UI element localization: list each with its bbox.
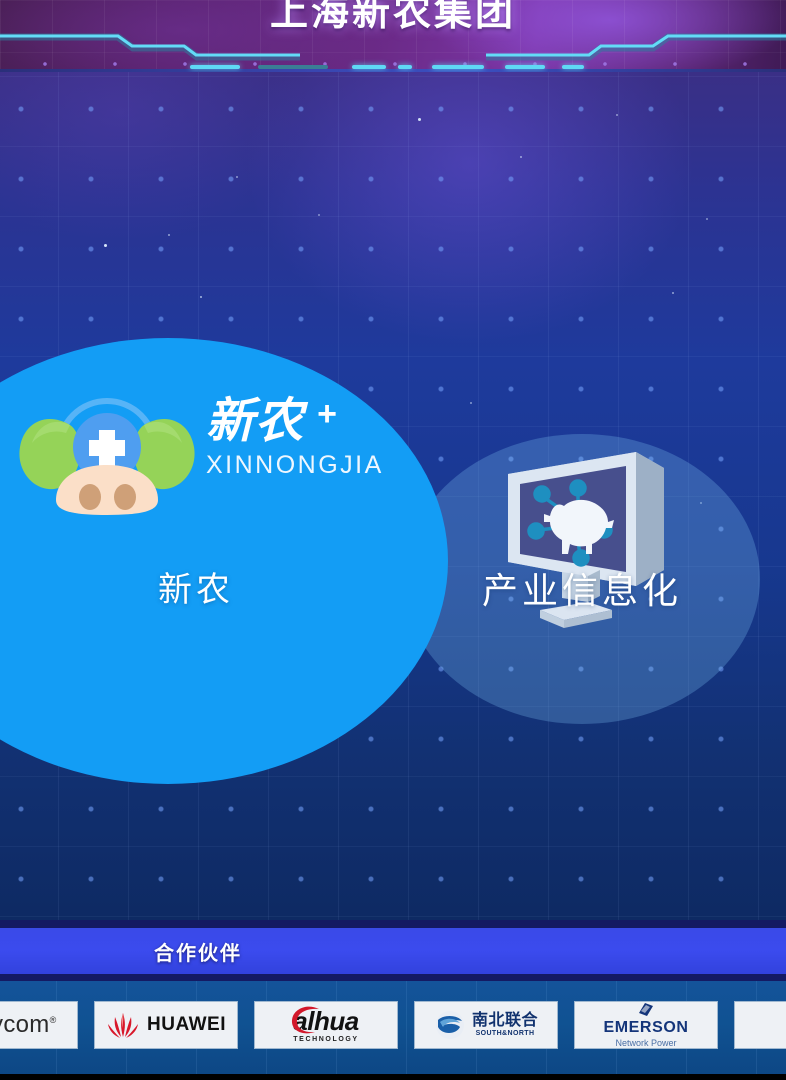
partner-logo-polycom[interactable]: Polycom® bbox=[0, 1001, 78, 1049]
module-label-xinnong: 新农 bbox=[0, 562, 392, 611]
partner-label-polycom: Polycom bbox=[0, 1011, 50, 1038]
partner-sublabel-dahua: TECHNOLOGY bbox=[293, 1036, 358, 1043]
header-dash-5 bbox=[432, 65, 484, 69]
screen-bottom-edge bbox=[0, 1074, 786, 1080]
header-dash-2 bbox=[258, 65, 328, 69]
partner-logo-strip: Polycom® HUAWEI bbox=[0, 981, 786, 1074]
partner-label-emerson: EMERSON bbox=[603, 1019, 688, 1037]
header-dash-3 bbox=[352, 65, 386, 69]
partner-logo-emerson[interactable]: EMERSON Network Power bbox=[574, 1001, 718, 1049]
main-stage: 新农 + XINNONGJIA 新农 bbox=[0, 72, 786, 920]
header-dash-1 bbox=[190, 65, 240, 69]
header-dash-4 bbox=[398, 65, 412, 69]
xinnong-logo-plus: + bbox=[317, 387, 338, 441]
page-title: 上海新农集团 bbox=[0, 0, 786, 38]
header-dash-7 bbox=[562, 65, 584, 69]
partner-divider-top bbox=[0, 920, 786, 928]
module-label-industry: 产业信息化 bbox=[404, 562, 760, 614]
partners-section-title: 合作伙伴 bbox=[154, 937, 242, 966]
partner-sublabel-emerson: Network Power bbox=[603, 1038, 688, 1048]
partner-sublabel-south-north: SOUTH&NORTH bbox=[472, 1030, 538, 1037]
partner-logo-dahua[interactable]: alhua TECHNOLOGY bbox=[254, 1001, 398, 1049]
huawei-flower-icon bbox=[106, 1010, 140, 1040]
app-screen: 上海新农集团 bbox=[0, 0, 786, 1080]
xinnong-logo-cn-wrap: 新农 + bbox=[206, 395, 304, 449]
xinnong-logo[interactable]: 新农 + XINNONGJIA bbox=[10, 387, 390, 517]
page-header: 上海新农集团 bbox=[0, 0, 786, 72]
partner-logo-row: Polycom® HUAWEI bbox=[0, 1001, 786, 1049]
dahua-swoosh-icon bbox=[289, 1005, 323, 1035]
partners-section-bar: 合作伙伴 bbox=[0, 928, 786, 974]
partner-divider-bottom bbox=[0, 974, 786, 981]
partner-logo-globe[interactable] bbox=[734, 1001, 786, 1049]
partner-label-huawei: HUAWEI bbox=[147, 1014, 226, 1036]
xinnong-logo-en: XINNONGJIA bbox=[206, 451, 396, 480]
xinnong-logo-text: 新农 + XINNONGJIA bbox=[206, 395, 396, 480]
emerson-flag-icon bbox=[636, 1002, 656, 1018]
polycom-wordmark-icon: Polycom® bbox=[0, 1011, 57, 1039]
header-dash-6 bbox=[505, 65, 545, 69]
partner-logo-south-north[interactable]: 南北联合 SOUTH&NORTH bbox=[414, 1001, 558, 1049]
pig-leaf-plus-logo-icon bbox=[10, 387, 205, 517]
south-north-swoosh-icon bbox=[434, 1010, 466, 1040]
xinnong-logo-cn: 新农 bbox=[206, 395, 304, 448]
partner-logo-huawei[interactable]: HUAWEI bbox=[94, 1001, 238, 1049]
partner-label-south-north: 南北联合 bbox=[472, 1013, 538, 1030]
